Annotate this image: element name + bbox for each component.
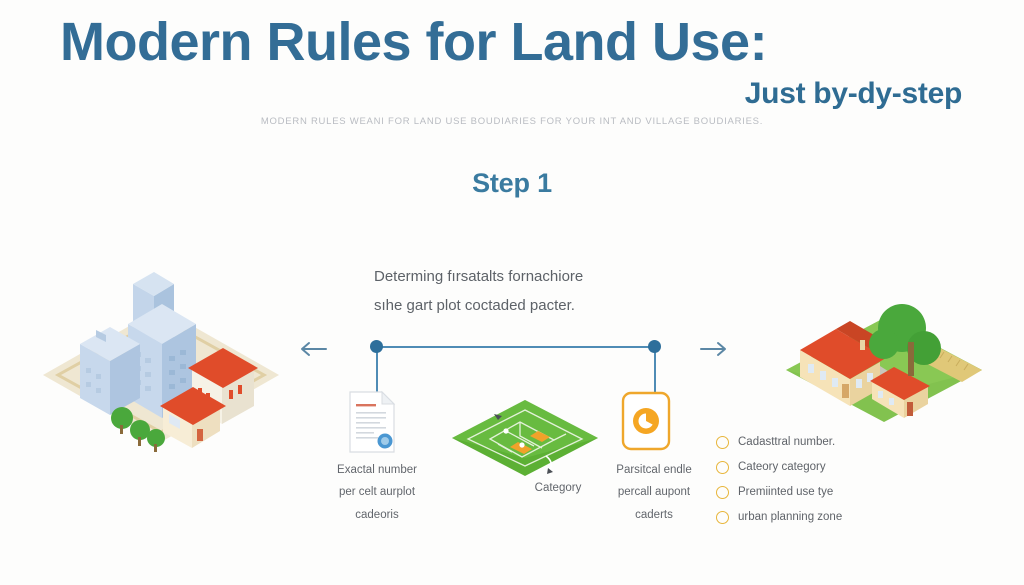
- step-description: Determing fırsatalts fornachiore sıhe ga…: [374, 262, 684, 321]
- bullet-circle-icon: [716, 486, 729, 499]
- bullet-label: Cateory category: [738, 461, 826, 473]
- cadastral-plot-map-icon: [450, 398, 600, 478]
- caption-line: caderts: [590, 504, 718, 526]
- description-line: sıhe gart plot coctaded pacter.: [374, 291, 684, 320]
- header-kicker-text: MODERN RULES WEANI FOR LAND USE BOUDIARI…: [0, 116, 1024, 127]
- list-item: Premiinted use tye: [716, 480, 916, 504]
- list-item: Cateory category: [716, 455, 916, 479]
- caption-line: per celt aurplot: [318, 481, 436, 503]
- connector-horizontal-line: [376, 346, 656, 348]
- connector-node-right: [648, 340, 661, 353]
- caption-line: Parsitcal endle: [590, 459, 718, 481]
- permit-badge-icon: [620, 390, 672, 452]
- bullet-label: Cadasttral number.: [738, 436, 835, 448]
- step-heading: Step 1: [0, 168, 1024, 199]
- isometric-city-illustration: [36, 272, 286, 472]
- description-line: Determing fırsatalts fornachiore: [374, 262, 684, 291]
- infographic-page: Modern Rules for Land Use: Just by-dy-st…: [0, 0, 1024, 585]
- connector-rail: [370, 340, 662, 400]
- caption-line: Exactal number: [318, 459, 436, 481]
- attribute-bullet-list: Cadasttral number. Cateory category Prem…: [716, 430, 916, 530]
- bullet-circle-icon: [716, 436, 729, 449]
- bullet-circle-icon: [716, 461, 729, 474]
- header: Modern Rules for Land Use: Just by-dy-st…: [0, 0, 1024, 150]
- list-item: urban planning zone: [716, 505, 916, 529]
- bullet-label: Premiinted use tye: [738, 486, 833, 498]
- caption-line: percall aupont: [590, 481, 718, 503]
- arrow-right-icon: [697, 336, 731, 362]
- bullet-circle-icon: [716, 511, 729, 524]
- caption-right: Parsitcal endle percall aupont caderts: [590, 459, 718, 526]
- connector-node-left: [370, 340, 383, 353]
- arrow-left-icon: [296, 336, 330, 362]
- bullet-label: urban planning zone: [738, 511, 842, 523]
- document-icon: [347, 390, 397, 454]
- isometric-village-illustration: [776, 278, 992, 434]
- caption-line: cadeoris: [318, 504, 436, 526]
- caption-left: Exactal number per celt aurplot cadeoris: [318, 459, 436, 526]
- page-subtitle: Just by-dy-step: [745, 77, 962, 111]
- page-title: Modern Rules for Land Use:: [60, 14, 964, 71]
